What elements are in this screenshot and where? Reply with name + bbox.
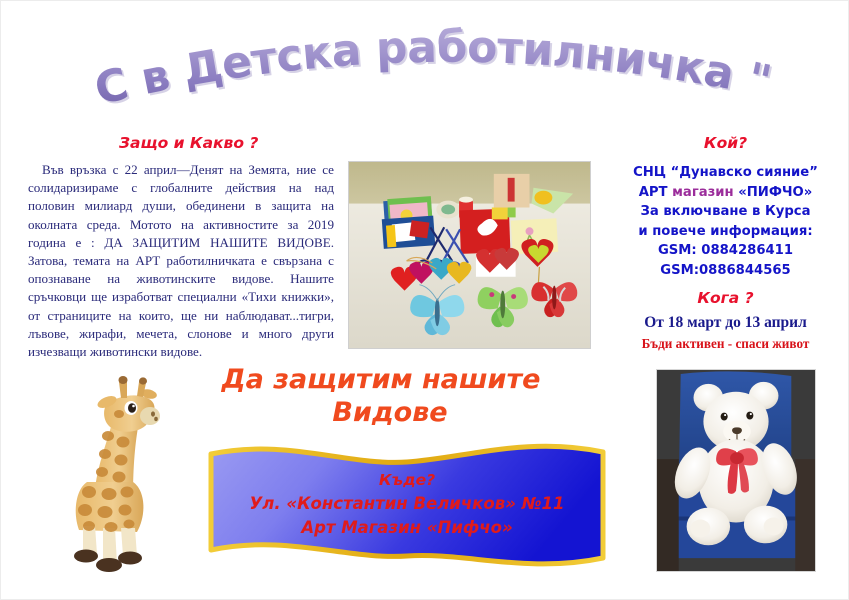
organization-name: СНЦ “Дунавско сияние” — [601, 163, 849, 183]
craft-supplies-photo — [348, 161, 591, 349]
teddy-bear-photo — [656, 369, 816, 572]
poster-title-text: АРТ КУРС в Детска работилничка "Пифчо" — [62, 0, 775, 115]
giraffe-plush-toy — [53, 364, 205, 576]
slogan-line-1: Да защитим нашите — [222, 364, 541, 395]
svg-text:АРТ КУРС в Детска работилничка: АРТ КУРС в Детска работилничка "Пифчо" — [62, 0, 775, 115]
shop-name-part3: «ПИФЧО» — [734, 185, 813, 200]
shop-name-part2: магазин — [672, 185, 733, 200]
join-course-line: За включване в Курса — [601, 202, 849, 222]
why-what-heading: Защо и Какво ? — [119, 134, 258, 152]
poster-title: АРТ КУРС в Детска работилничка "Пифчо" А… — [86, 39, 766, 117]
location-banner — [197, 442, 617, 571]
course-dates: От 18 март до 13 април — [601, 312, 849, 334]
poster-canvas: АРТ КУРС в Детска работилничка "Пифчо" А… — [0, 0, 849, 600]
body-paragraph: Във връзка с 22 април—Денят на Земята, н… — [28, 161, 334, 361]
protect-species-slogan: Да защитим нашите Видове — [191, 363, 571, 429]
call-to-action: Бъди активен - спаси живот — [601, 334, 849, 354]
contact-column: Кой? СНЦ “Дунавско сияние” АРТ магазин «… — [601, 134, 849, 354]
slogan-line-2: Видове — [191, 396, 571, 429]
more-info-line: и повече информация: — [601, 222, 849, 242]
phone-number-1[interactable]: GSM: 0884286411 — [601, 241, 849, 261]
when-heading: Кога ? — [601, 289, 849, 307]
phone-number-2[interactable]: GSM:0886844565 — [601, 261, 849, 281]
shop-name-part1: АРТ — [639, 185, 672, 200]
shop-name: АРТ магазин «ПИФЧО» — [601, 183, 849, 203]
who-heading: Кой? — [601, 134, 849, 152]
